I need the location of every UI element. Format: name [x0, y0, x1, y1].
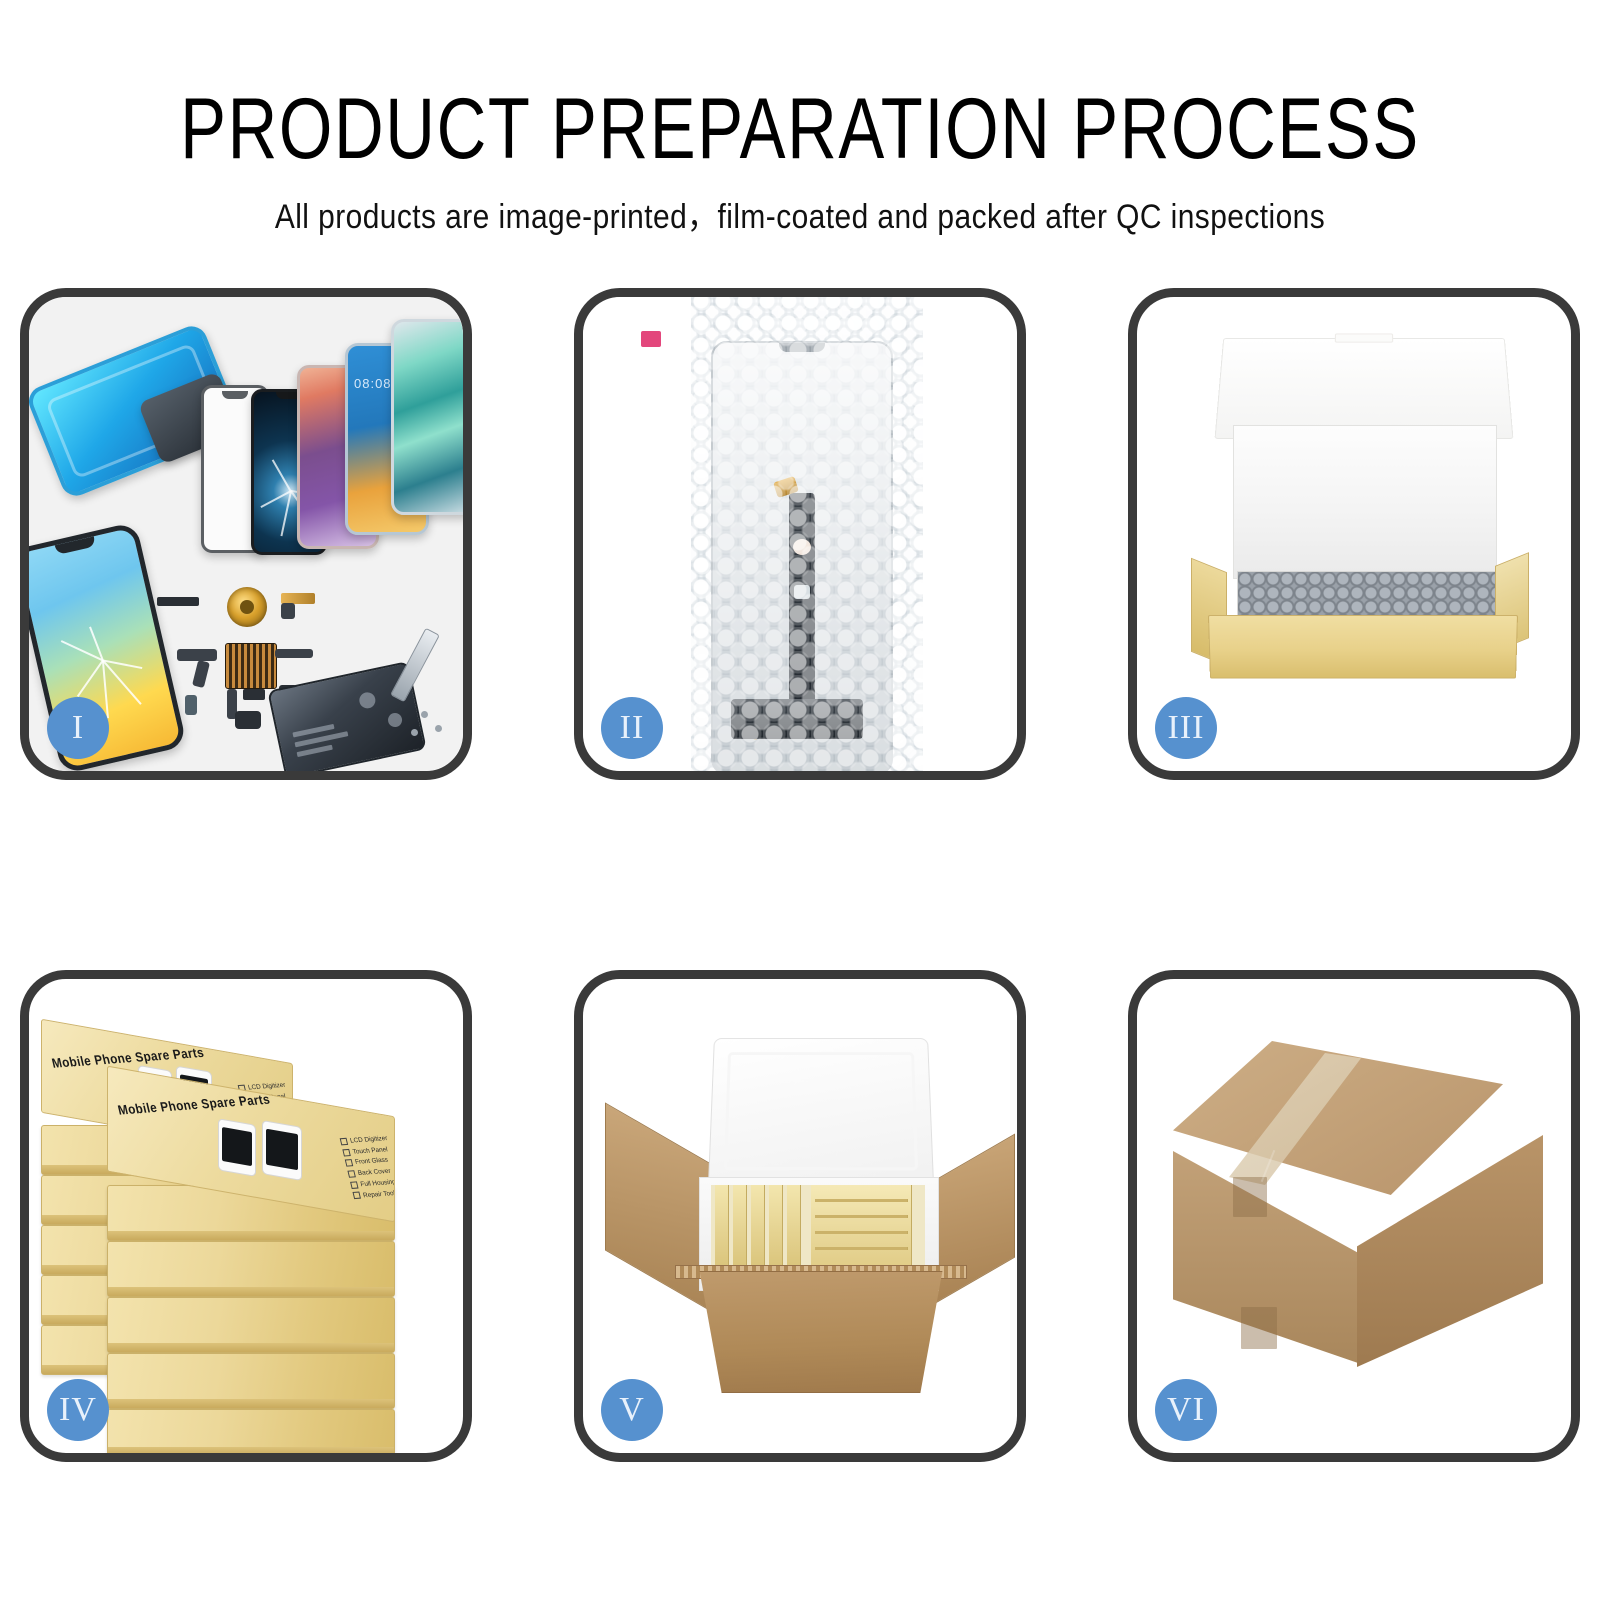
- ic-chip-icon: [225, 643, 277, 689]
- retail-box-stacks: Mobile Phone Spare Parts LCD Digitizer T…: [29, 979, 463, 1453]
- process-step-2[interactable]: II: [574, 288, 1026, 780]
- step-3-image: [1137, 297, 1571, 771]
- styrofoam-lid-icon: [708, 1038, 934, 1186]
- small-component-icon: [243, 689, 265, 700]
- process-step-5[interactable]: V: [574, 970, 1026, 1462]
- packed-retail-boxes-icon: [711, 1185, 925, 1271]
- mailer-box-front-icon: [1208, 615, 1518, 679]
- wireless-charging-coil-icon: [227, 587, 267, 627]
- step-badge-3: III: [1155, 697, 1217, 759]
- page-title: PRODUCT PREPARATION PROCESS: [160, 86, 1440, 172]
- step-badge-5: V: [601, 1379, 663, 1441]
- step-6-image: [1137, 979, 1571, 1453]
- earpiece-speaker-icon: [157, 597, 199, 606]
- phone-teal-display-icon: [391, 319, 463, 515]
- step-1-image: 08:08: [29, 297, 463, 771]
- product-process-infographic: PRODUCT PREPARATION PROCESS All products…: [0, 0, 1600, 1600]
- process-step-3[interactable]: III: [1128, 288, 1580, 780]
- step-badge-1: I: [47, 697, 109, 759]
- taptic-engine-icon: [235, 711, 261, 729]
- step-4-image: Mobile Phone Spare Parts LCD Digitizer T…: [29, 979, 463, 1453]
- process-grid: 08:08: [0, 288, 1600, 1462]
- flex-cable-icon: [275, 649, 313, 658]
- foam-sheet-icon: [1233, 425, 1497, 579]
- retail-box-checklist-front: LCD Digitizer Touch Panel Front Glass Ba…: [339, 1134, 395, 1203]
- retail-box-brand-label: Mobile Phone Spare Parts: [116, 1091, 271, 1117]
- process-step-4[interactable]: Mobile Phone Spare Parts LCD Digitizer T…: [20, 970, 472, 1462]
- carton-body-icon: [683, 1271, 959, 1393]
- step-2-image: [583, 297, 1017, 771]
- sim-tray-icon: [185, 695, 197, 715]
- step-badge-6: VI: [1155, 1379, 1217, 1441]
- step-5-image: [583, 979, 1017, 1453]
- qc-sticker-icon: [641, 331, 661, 347]
- bubble-wrap-overlay-icon: [691, 297, 923, 771]
- mailer-box-lid-icon: [1215, 338, 1514, 439]
- step-badge-4: IV: [47, 1379, 109, 1441]
- step-badge-2: II: [601, 697, 663, 759]
- header: PRODUCT PREPARATION PROCESS All products…: [0, 0, 1600, 234]
- connector-strip-icon: [177, 649, 217, 661]
- process-step-1[interactable]: 08:08: [20, 288, 472, 780]
- page-subtitle: All products are image-printed，film-coat…: [96, 200, 1504, 234]
- flex-cable-icon: [281, 603, 295, 619]
- process-step-6[interactable]: VI: [1128, 970, 1580, 1462]
- phone-clock-label: 08:08: [354, 376, 392, 391]
- process-row-2: Mobile Phone Spare Parts LCD Digitizer T…: [0, 970, 1600, 1462]
- process-row-1: 08:08: [0, 288, 1600, 780]
